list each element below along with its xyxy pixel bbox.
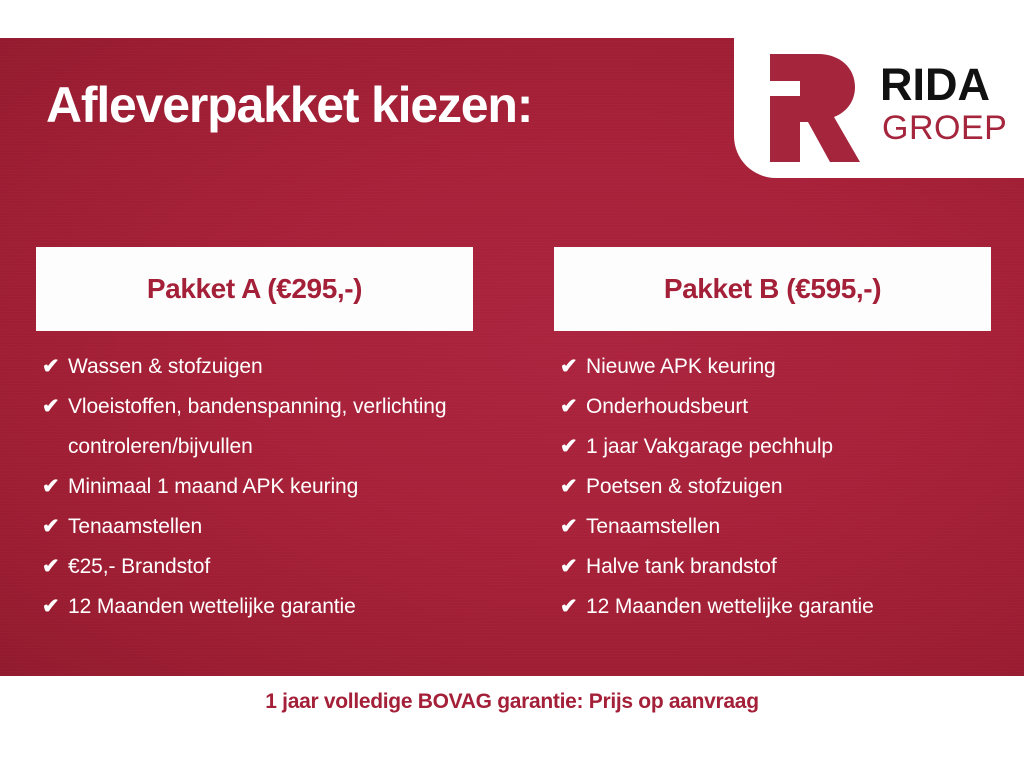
list-item: ✔Tenaamstellen <box>36 507 473 547</box>
list-item: ✔Wassen & stofzuigen <box>36 347 473 387</box>
list-item-label: 12 Maanden wettelijke garantie <box>586 587 991 627</box>
logo-panel: RIDA GROEP <box>734 38 1024 178</box>
list-item-label: Tenaamstellen <box>68 507 473 547</box>
list-item-label: Halve tank brandstof <box>586 547 991 587</box>
list-item-label: 12 Maanden wettelijke garantie <box>68 587 473 627</box>
list-item-label: Wassen & stofzuigen <box>68 347 473 387</box>
list-item-label: Vloeistoffen, bandenspanning, verlichtin… <box>68 387 473 467</box>
check-mark-icon: ✔ <box>554 467 586 507</box>
check-mark-icon: ✔ <box>36 587 68 627</box>
list-item: ✔Halve tank brandstof <box>554 547 991 587</box>
footer-note: 1 jaar volledige BOVAG garantie: Prijs o… <box>265 690 758 714</box>
check-mark-icon: ✔ <box>554 547 586 587</box>
list-item: ✔1 jaar Vakgarage pechhulp <box>554 427 991 467</box>
package-column-b: Pakket B (€595,-) ✔Nieuwe APK keuring✔On… <box>554 247 991 627</box>
list-item: ✔Nieuwe APK keuring <box>554 347 991 387</box>
list-item: ✔Tenaamstellen <box>554 507 991 547</box>
package-b-header[interactable]: Pakket B (€595,-) <box>554 247 991 331</box>
logo-subtitle: GROEP <box>882 111 1007 145</box>
list-item: ✔12 Maanden wettelijke garantie <box>554 587 991 627</box>
package-b-title: Pakket B (€595,-) <box>664 273 881 305</box>
list-item-label: Onderhoudsbeurt <box>586 387 991 427</box>
check-mark-icon: ✔ <box>36 507 68 547</box>
package-column-a: Pakket A (€295,-) ✔Wassen & stofzuigen✔V… <box>36 247 473 627</box>
check-mark-icon: ✔ <box>36 347 68 387</box>
footer-bar: 1 jaar volledige BOVAG garantie: Prijs o… <box>0 676 1024 768</box>
list-item-label: Nieuwe APK keuring <box>586 347 991 387</box>
list-item-label: 1 jaar Vakgarage pechhulp <box>586 427 991 467</box>
page-title: Afleverpakket kiezen: <box>46 76 532 134</box>
check-mark-icon: ✔ <box>554 507 586 547</box>
list-item: ✔Poetsen & stofzuigen <box>554 467 991 507</box>
list-item-label: Minimaal 1 maand APK keuring <box>68 467 473 507</box>
check-mark-icon: ✔ <box>554 387 586 427</box>
check-mark-icon: ✔ <box>554 587 586 627</box>
list-item-label: €25,- Brandstof <box>68 547 473 587</box>
rida-r-mark-icon <box>756 48 876 168</box>
package-a-header[interactable]: Pakket A (€295,-) <box>36 247 473 331</box>
list-item: ✔Vloeistoffen, bandenspanning, verlichti… <box>36 387 473 467</box>
package-b-feature-list: ✔Nieuwe APK keuring✔Onderhoudsbeurt✔1 ja… <box>554 347 991 627</box>
logo-wordmark: RIDA GROEP <box>880 62 1007 145</box>
list-item: ✔Minimaal 1 maand APK keuring <box>36 467 473 507</box>
package-a-feature-list: ✔Wassen & stofzuigen✔Vloeistoffen, bande… <box>36 347 473 627</box>
check-mark-icon: ✔ <box>554 427 586 467</box>
list-item-label: Poetsen & stofzuigen <box>586 467 991 507</box>
list-item-label: Tenaamstellen <box>586 507 991 547</box>
check-mark-icon: ✔ <box>36 547 68 587</box>
logo-name: RIDA <box>880 62 990 107</box>
package-a-title: Pakket A (€295,-) <box>147 273 362 305</box>
check-mark-icon: ✔ <box>36 467 68 507</box>
check-mark-icon: ✔ <box>36 387 68 427</box>
check-mark-icon: ✔ <box>554 347 586 387</box>
list-item: ✔12 Maanden wettelijke garantie <box>36 587 473 627</box>
list-item: ✔€25,- Brandstof <box>36 547 473 587</box>
promo-graphic: Afleverpakket kiezen: RIDA GROEP Pakket … <box>0 0 1024 768</box>
list-item: ✔Onderhoudsbeurt <box>554 387 991 427</box>
